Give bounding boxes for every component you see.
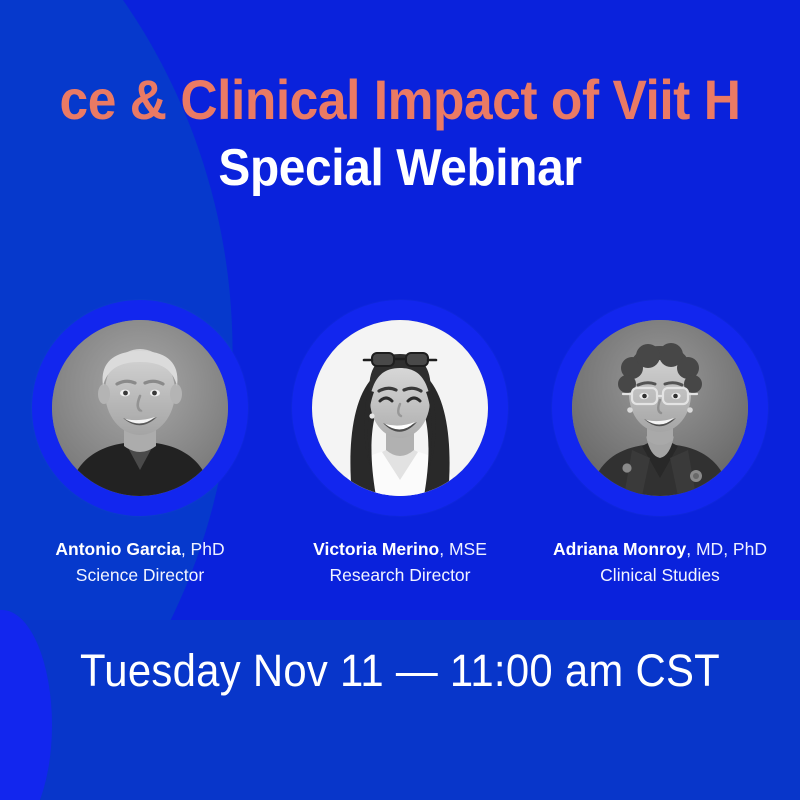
speaker-credential: , MSE (439, 539, 487, 559)
speaker-name-line: Adriana Monroy, MD, PhD (553, 538, 767, 561)
avatar-ring (552, 300, 768, 516)
background-left-sliver-shape (0, 610, 52, 800)
speaker-card: Antonio Garcia, PhD Science Director (15, 300, 265, 587)
speaker-card: Victoria Merino, MSE Research Director (275, 300, 525, 587)
avatar-ring (292, 300, 508, 516)
webinar-poster: ce & Clinical Impact of Viit H Special W… (0, 0, 800, 800)
speaker-name-line: Antonio Garcia, PhD (55, 538, 224, 561)
speaker-caption: Antonio Garcia, PhD Science Director (55, 538, 224, 587)
speaker-credential: , PhD (181, 539, 225, 559)
speaker-name: Antonio Garcia (55, 539, 180, 559)
speaker-caption: Adriana Monroy, MD, PhD Clinical Studies (553, 538, 767, 587)
speaker-role: Clinical Studies (553, 564, 767, 587)
speaker-name: Victoria Merino (313, 539, 439, 559)
speaker-role: Science Director (55, 564, 224, 587)
webinar-title: ce & Clinical Impact of Viit H (32, 70, 768, 130)
speaker-name: Adriana Monroy (553, 539, 686, 559)
avatar (52, 320, 228, 496)
speaker-card: Adriana Monroy, MD, PhD Clinical Studies (535, 300, 785, 587)
event-date-time: Tuesday Nov 11 — 11:00 am CST (28, 645, 772, 697)
speakers-row: Antonio Garcia, PhD Science Director (0, 300, 800, 587)
speaker-role: Research Director (313, 564, 487, 587)
speaker-caption: Victoria Merino, MSE Research Director (313, 538, 487, 587)
avatar-ring (32, 300, 248, 516)
speaker-credential: , MD, PhD (686, 539, 767, 559)
avatar (572, 320, 748, 496)
headline-block: ce & Clinical Impact of Viit H Special W… (0, 70, 800, 198)
avatar (312, 320, 488, 496)
webinar-subtitle: Special Webinar (32, 140, 768, 197)
speaker-name-line: Victoria Merino, MSE (313, 538, 487, 561)
